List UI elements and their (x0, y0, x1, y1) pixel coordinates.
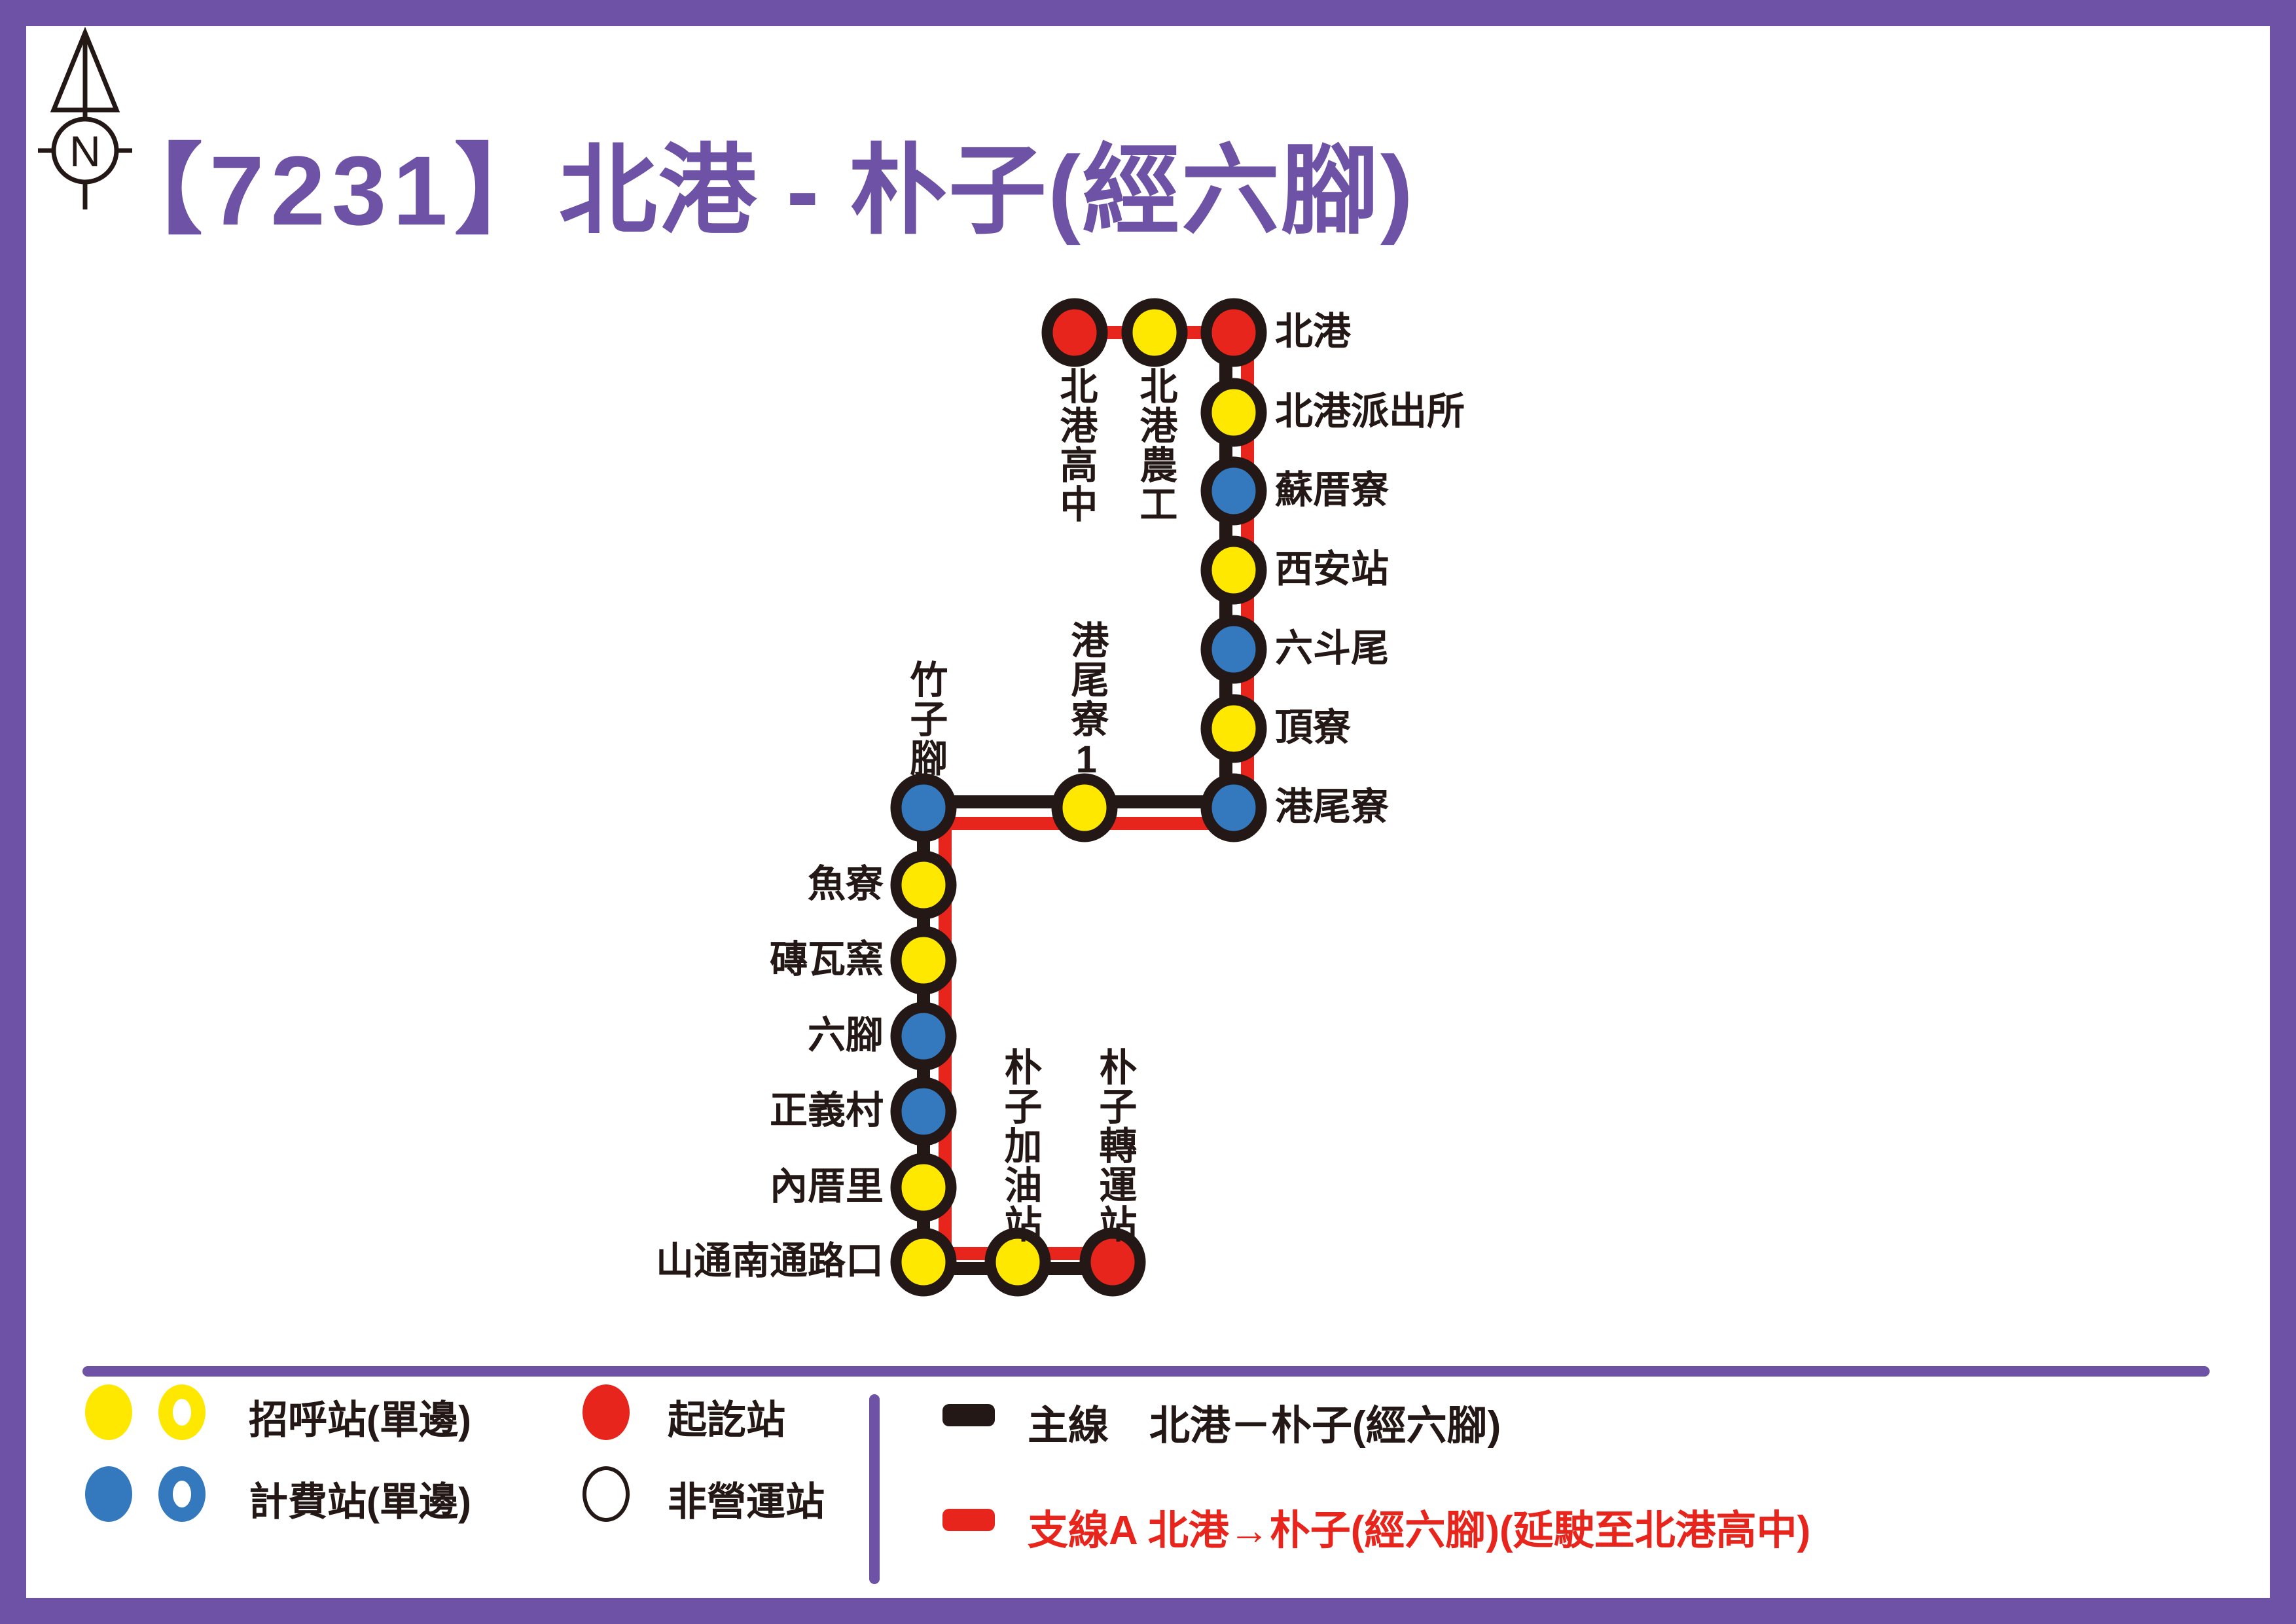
station-label-yuliao: 魚寮 (808, 865, 884, 903)
legend-label-non-service-stop: 非營運站 (668, 1470, 825, 1527)
station-marker-beigang-police (1206, 384, 1261, 441)
station-label-liujiao: 六腳 (808, 1017, 884, 1055)
station-label-dingliao: 頂寮 (1275, 709, 1351, 747)
route-map-poster: 【7231】北港 - 朴子(經六腳) (26, 26, 2270, 1598)
legend-label-fare-stop: 計費站(單邊) (249, 1470, 471, 1527)
station-label-zhuanwayao: 磚瓦窯 (770, 941, 884, 979)
station-label-puzi-transfer-station: 朴子轉運站 (1094, 1047, 1134, 1244)
hail-stop-filled-icon (85, 1384, 132, 1440)
station-marker-sucuoliao (1206, 462, 1261, 520)
station-label-neicuoli: 內厝里 (770, 1168, 884, 1206)
station-label-xian-station: 西安站 (1275, 550, 1389, 588)
legend-label-branch-line: 支線A 北港→朴子(經六腳)(延駛至北港高中) (1028, 1497, 1810, 1556)
station-label-liudouwei: 六斗尾 (1275, 630, 1389, 668)
station-marker-dingliao (1206, 700, 1261, 757)
station-marker-neicuoli (896, 1159, 951, 1216)
station-marker-liujiao (896, 1007, 951, 1065)
fare-stop-filled-icon (85, 1466, 132, 1522)
main-line-swatch-icon (942, 1404, 995, 1426)
branch-line-swatch-icon (942, 1509, 995, 1531)
station-marker-gangweiliao (1206, 779, 1261, 837)
station-label-gangweiliao: 港尾寮 (1275, 788, 1389, 826)
station-marker-yuliao (896, 856, 951, 914)
hail-stop-ring-icon (158, 1384, 206, 1440)
station-marker-zhengyicun (896, 1083, 951, 1140)
station-label-zhengyicun: 正義村 (770, 1092, 884, 1130)
station-label-sucuoliao: 蘇厝寮 (1275, 471, 1389, 509)
compass-rose: N (26, 26, 144, 216)
legend-label-hail-stop: 招呼站(單邊) (249, 1388, 471, 1445)
station-label-beigang-police: 北港派出所 (1275, 393, 1465, 431)
route-diagram: 北港高中 北港農工 北港 北港派出所 蘇厝寮 西安站 六斗尾 頂寮 港尾寮 港尾… (26, 26, 2270, 1342)
station-label-zhuzijiao: 竹子腳 (905, 660, 944, 778)
station-marker-beigang (1206, 304, 1261, 361)
station-label-puzi-gas-station: 朴子加油站 (999, 1047, 1039, 1244)
station-marker-zhuzijiao (896, 779, 951, 837)
station-marker-xian-station (1206, 541, 1261, 599)
station-marker-beigang-agri-industrial (1127, 304, 1182, 361)
legend-label-terminal-stop: 起訖站 (668, 1388, 785, 1445)
station-label-beigang: 北港 (1275, 313, 1351, 351)
station-label-gangweiliao-1: 港尾寮1 (1066, 621, 1105, 782)
station-marker-zhuanwayao (896, 931, 951, 989)
terminal-stop-icon (583, 1384, 630, 1440)
legend: 招呼站(單邊) 起訖站 計費站(單邊) 非營運站 主線 北港－朴子(經六腳) 支… (26, 1371, 2270, 1598)
route-lines-svg (26, 26, 2270, 1342)
non-service-stop-icon (583, 1466, 630, 1522)
compass-north-label: N (69, 127, 101, 175)
fare-stop-ring-icon (158, 1466, 206, 1522)
station-label-beigang-senior-high: 北港高中 (1055, 367, 1094, 524)
station-label-shantongnantong-intersection: 山通南通路口 (656, 1242, 884, 1280)
station-marker-beigang-senior-high (1047, 304, 1102, 361)
station-marker-shantongnantong-intersection (896, 1233, 951, 1291)
station-marker-gangweiliao-1 (1057, 779, 1112, 837)
legend-label-main-line: 主線 北港－朴子(經六腳) (1028, 1392, 1501, 1451)
station-label-beigang-agri-industrial: 北港農工 (1135, 367, 1174, 524)
station-marker-liudouwei (1206, 621, 1261, 678)
